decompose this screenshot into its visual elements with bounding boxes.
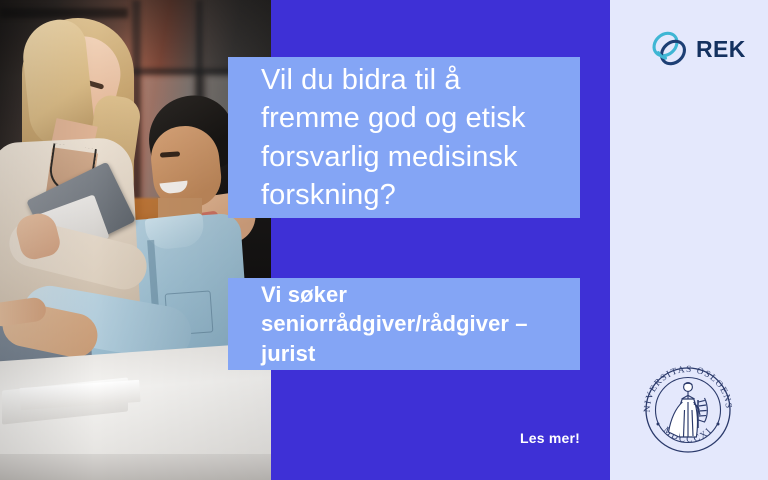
rek-interlocking-rings-icon xyxy=(648,27,692,71)
rek-logo[interactable]: REK xyxy=(648,26,740,72)
read-more-link[interactable]: Les mer! xyxy=(452,430,581,446)
headline-box: Vil du bidra til å fremme god og etisk f… xyxy=(228,57,580,218)
job-title: Vi søker seniorrådgiver/rådgiver – juris… xyxy=(228,280,580,368)
page-title: Vil du bidra til å fremme god og etisk f… xyxy=(228,61,580,214)
job-title-box: Vi søker seniorrådgiver/rådgiver – juris… xyxy=(228,278,580,370)
desk-edge xyxy=(0,454,271,480)
recruitment-banner: Vil du bidra til å fremme god og etisk f… xyxy=(0,0,768,480)
rek-wordmark: REK xyxy=(696,38,746,61)
uio-seal[interactable]: UNIVERSITAS OSLOENSIS MDCCCXI xyxy=(636,358,740,462)
uio-apollo-seal-icon: UNIVERSITAS OSLOENSIS MDCCCXI xyxy=(636,358,740,462)
window-frame xyxy=(0,8,128,18)
